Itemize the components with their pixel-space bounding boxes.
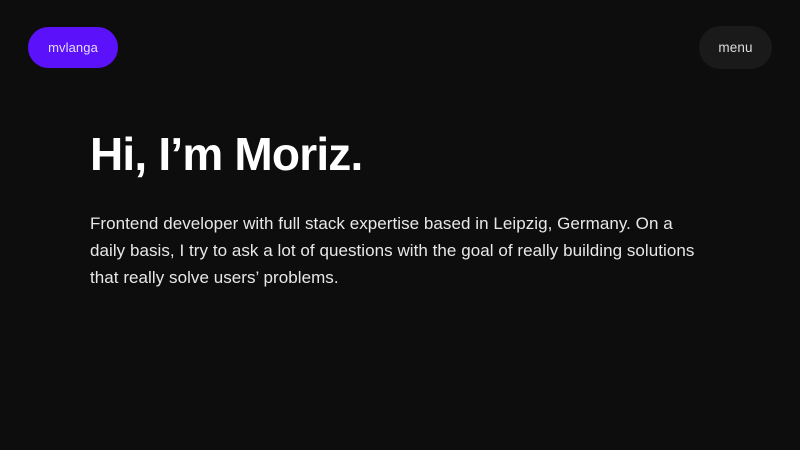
menu-button[interactable]: menu <box>699 26 772 69</box>
site-header: mvlanga menu <box>0 0 800 95</box>
page-title: Hi, I’m Moriz. <box>90 130 710 180</box>
menu-button-label: menu <box>718 41 752 55</box>
hero-section: Hi, I’m Moriz. Frontend developer with f… <box>90 130 710 291</box>
hero-description: Frontend developer with full stack exper… <box>90 210 702 291</box>
brand-logo-button[interactable]: mvlanga <box>28 27 118 68</box>
brand-logo-label: mvlanga <box>48 41 98 54</box>
